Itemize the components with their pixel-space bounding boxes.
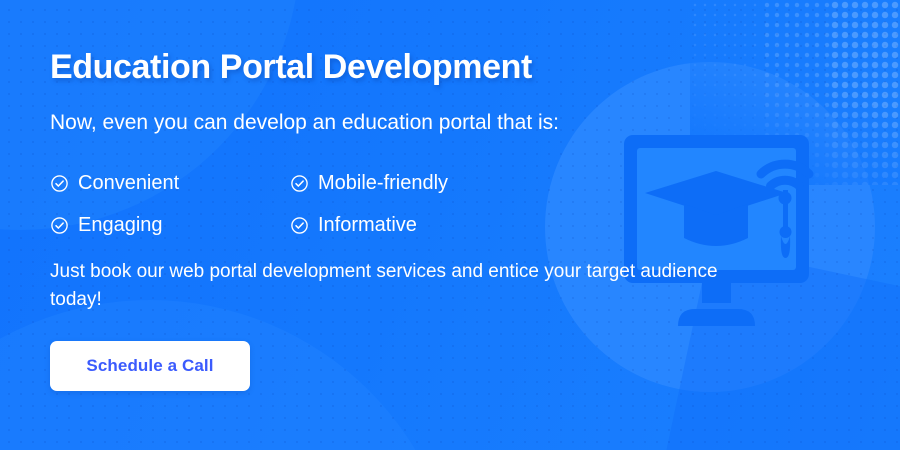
list-item: Engaging xyxy=(50,215,290,235)
feature-list: Convenient Mobile-friendly Engaging xyxy=(50,162,570,246)
feature-label: Informative xyxy=(318,215,417,235)
check-circle-icon xyxy=(290,174,309,193)
list-item: Convenient xyxy=(50,173,290,193)
banner-description: Just book our web portal development ser… xyxy=(50,258,770,313)
list-item: Informative xyxy=(290,215,530,235)
check-circle-icon xyxy=(50,174,69,193)
schedule-a-call-button[interactable]: Schedule a Call xyxy=(50,341,250,391)
check-circle-icon xyxy=(50,216,69,235)
list-item: Mobile-friendly xyxy=(290,173,530,193)
feature-label: Engaging xyxy=(78,215,163,235)
check-circle-icon xyxy=(290,216,309,235)
page-title: Education Portal Development xyxy=(50,48,532,87)
banner-subheadline: Now, even you can develop an education p… xyxy=(50,111,559,135)
banner-content: Education Portal Development Now, even y… xyxy=(50,0,810,450)
education-portal-promo-banner: Education Portal Development Now, even y… xyxy=(0,0,900,450)
feature-label: Mobile-friendly xyxy=(318,173,448,193)
feature-label: Convenient xyxy=(78,173,179,193)
